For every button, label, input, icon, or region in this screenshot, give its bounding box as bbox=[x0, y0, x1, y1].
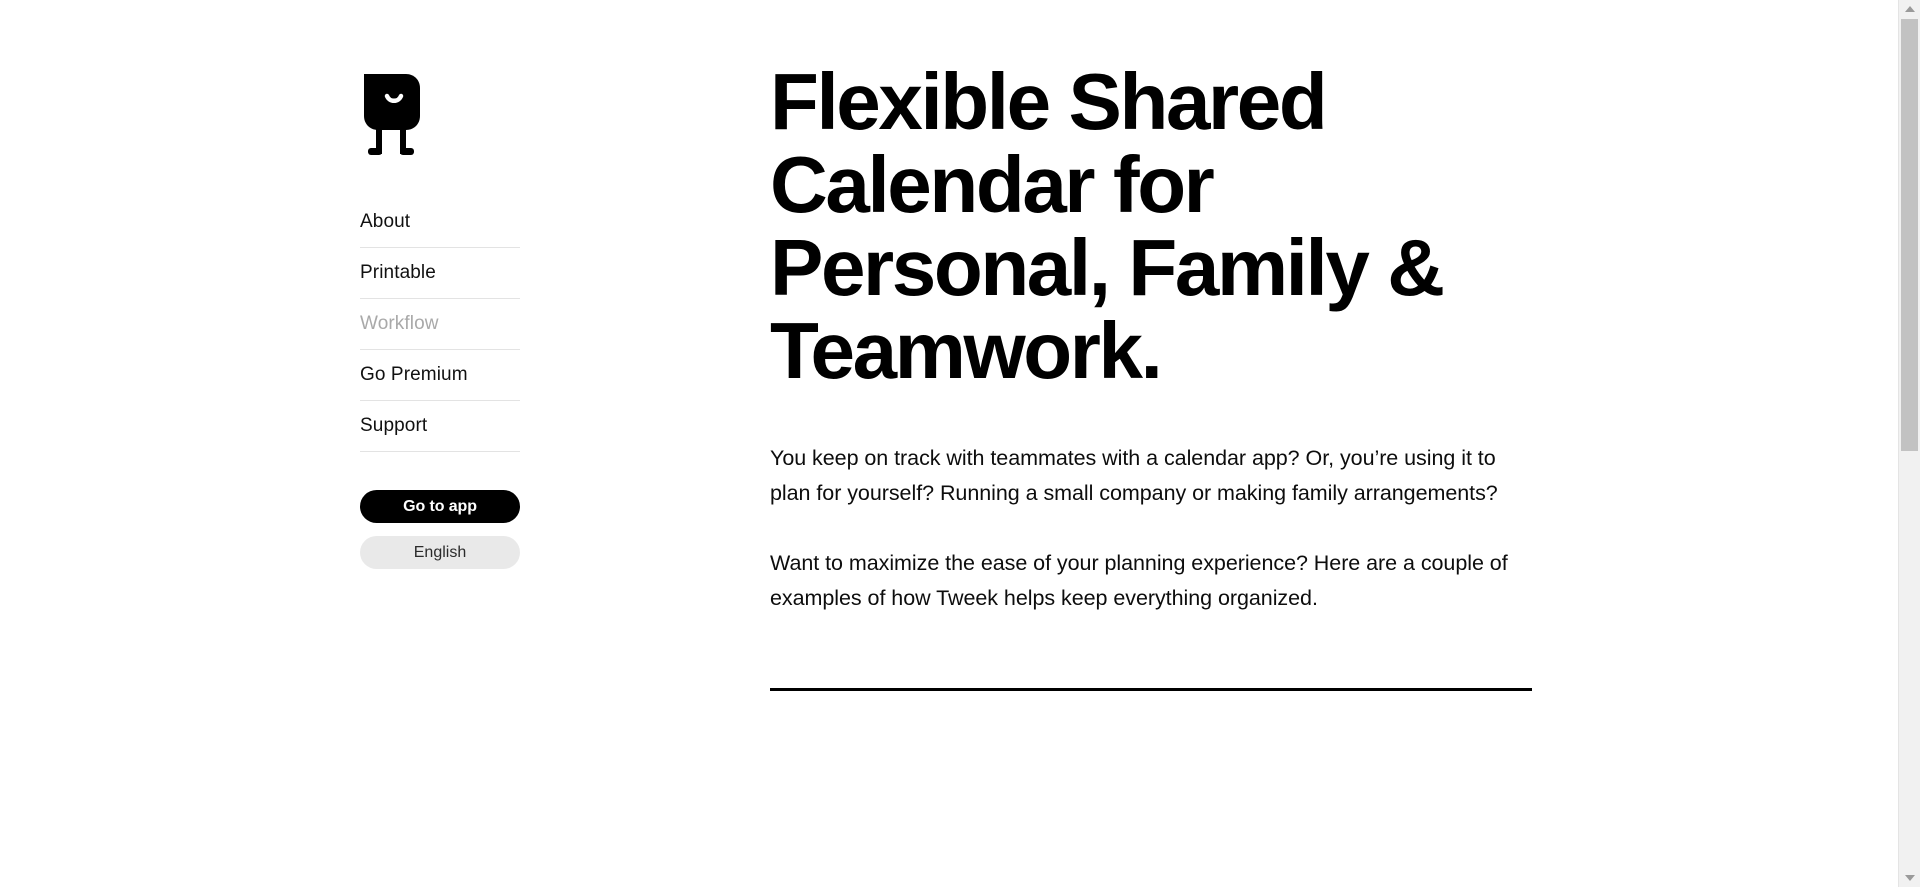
language-selector-button[interactable]: English bbox=[360, 536, 520, 569]
sidebar-nav: About Printable Workflow Go Premium Supp… bbox=[360, 210, 520, 452]
sidebar-item-about[interactable]: About bbox=[360, 210, 520, 248]
sidebar-item-printable[interactable]: Printable bbox=[360, 248, 520, 299]
scroll-down-arrow-icon[interactable] bbox=[1899, 869, 1920, 887]
intro-paragraph-2: Want to maximize the ease of your planni… bbox=[770, 546, 1535, 616]
browser-viewport: About Printable Workflow Go Premium Supp… bbox=[0, 0, 1920, 887]
section-divider-rule bbox=[770, 688, 1532, 691]
sidebar: About Printable Workflow Go Premium Supp… bbox=[360, 72, 520, 569]
tweek-bird-logo[interactable] bbox=[360, 72, 422, 160]
intro-copy: You keep on track with teammates with a … bbox=[770, 441, 1535, 616]
triangle-down-glyph bbox=[1905, 875, 1915, 881]
scroll-up-arrow-icon[interactable] bbox=[1899, 0, 1920, 18]
page-headline: Flexible Shared Calendar for Personal, F… bbox=[770, 60, 1470, 392]
go-to-app-button[interactable]: Go to app bbox=[360, 490, 520, 523]
triangle-up-glyph bbox=[1905, 6, 1915, 12]
intro-paragraph-1: You keep on track with teammates with a … bbox=[770, 441, 1535, 511]
sidebar-item-go-premium[interactable]: Go Premium bbox=[360, 350, 520, 401]
page-content: About Printable Workflow Go Premium Supp… bbox=[0, 0, 1898, 887]
sidebar-item-support[interactable]: Support bbox=[360, 401, 520, 452]
sidebar-item-workflow[interactable]: Workflow bbox=[360, 299, 520, 350]
main-content: Flexible Shared Calendar for Personal, F… bbox=[770, 60, 1540, 691]
sidebar-actions: Go to app English bbox=[360, 490, 520, 569]
scrollbar-thumb[interactable] bbox=[1901, 19, 1918, 451]
vertical-scrollbar[interactable] bbox=[1898, 0, 1920, 887]
